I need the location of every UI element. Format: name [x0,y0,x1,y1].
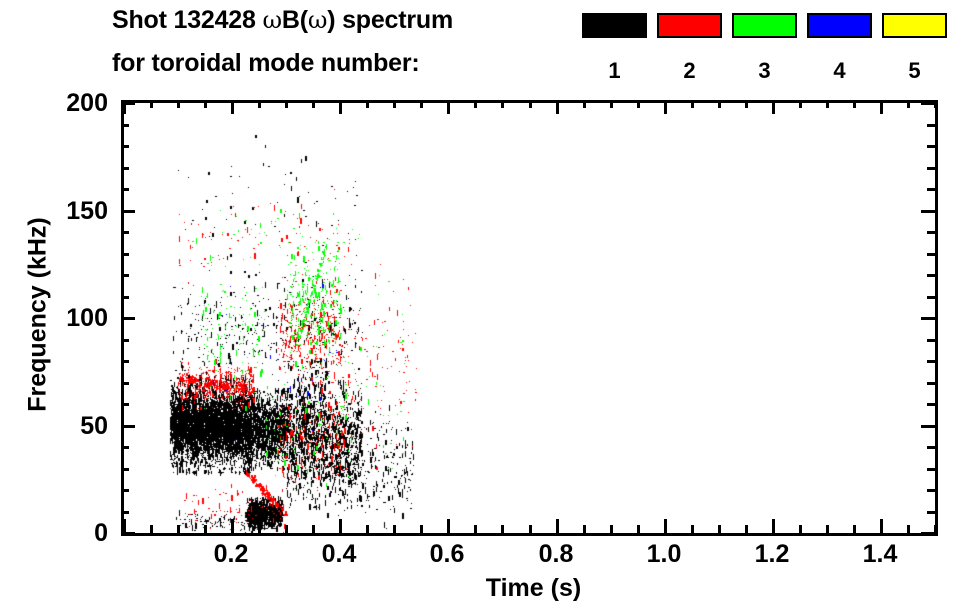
x-minor-tick-top [474,100,477,108]
page-subtitle: for toroidal mode number: [112,49,420,78]
legend-swatch-mode-n4 [807,13,872,38]
x-major-tick-top [556,100,559,114]
y-minor-tick-right [927,511,935,514]
x-minor-tick-top [934,100,937,108]
y-minor-tick [121,511,129,514]
y-minor-tick-right [927,360,935,363]
y-minor-tick [121,339,129,342]
title-text-pre: Shot 132428 [112,6,262,34]
y-minor-tick-right [927,231,935,234]
y-minor-tick [121,403,129,406]
legend-label-mode-n5: 5 [882,60,947,82]
x-minor-tick [285,525,288,533]
y-minor-tick-right [927,489,935,492]
plot-frame-right-edge [935,100,938,536]
x-minor-tick [610,525,613,533]
y-minor-tick-right [927,188,935,191]
x-minor-tick-top [583,100,586,108]
x-minor-tick [393,525,396,533]
x-minor-tick [826,525,829,533]
y-minor-tick-right [927,446,935,449]
y-major-tick-right [921,317,935,320]
y-minor-tick-right [927,339,935,342]
x-major-tick [880,519,883,533]
x-minor-tick [907,525,910,533]
legend-label-mode-n4: 4 [807,60,872,82]
y-major-tick [121,425,135,428]
y-minor-tick [121,253,129,256]
y-minor-tick-right [927,468,935,471]
x-minor-tick-top [637,100,640,108]
y-minor-tick [121,468,129,471]
x-minor-tick-top [529,100,532,108]
x-axis-title-text: Time (s) [486,574,581,602]
x-major-tick [772,519,775,533]
x-major-tick [664,519,667,533]
y-minor-tick-right [927,167,935,170]
y-major-tick [121,317,135,320]
x-minor-tick [799,525,802,533]
y-minor-tick [121,274,129,277]
spectrum-figure: Shot 132428 ωB(ω) spectrum for toroidal … [0,0,963,615]
x-minor-tick-top [501,100,504,108]
y-minor-tick [121,188,129,191]
x-major-tick-top [231,100,234,114]
x-minor-tick [420,525,423,533]
x-minor-tick-top [907,100,910,108]
y-minor-tick-right [927,296,935,299]
x-minor-tick-top [745,100,748,108]
x-minor-tick-top [285,100,288,108]
x-minor-tick-top [826,100,829,108]
y-major-tick-right [921,102,935,105]
x-minor-tick-top [150,100,153,108]
x-minor-tick [745,525,748,533]
x-minor-tick [583,525,586,533]
x-minor-tick-top [691,100,694,108]
x-minor-tick-top [853,100,856,108]
x-major-tick [123,519,126,533]
x-minor-tick [204,525,207,533]
x-minor-tick [691,525,694,533]
omega-symbol-2: ω [308,6,327,34]
x-minor-tick-top [420,100,423,108]
x-tick-label: 0.6 [402,542,492,567]
y-axis-title: Frequency (kHz) [24,195,53,435]
x-minor-tick [258,525,261,533]
y-minor-tick [121,382,129,385]
y-minor-tick [121,124,129,127]
title-text-mid: B( [282,6,308,34]
x-minor-tick [718,525,721,533]
y-major-tick [121,210,135,213]
x-minor-tick [474,525,477,533]
y-minor-tick-right [927,124,935,127]
y-minor-tick-right [927,274,935,277]
title-text-post: ) spectrum [327,6,453,34]
x-tick-label: 0.8 [511,542,601,567]
legend-swatch-mode-n1 [582,13,647,38]
y-major-tick-right [921,425,935,428]
y-minor-tick-right [927,403,935,406]
omega-symbol-1: ω [262,6,281,34]
y-major-tick-right [921,210,935,213]
x-major-tick-top [339,100,342,114]
spectrogram-scatter-canvas [124,103,935,533]
x-tick-label: 1.2 [727,542,817,567]
x-minor-tick [177,525,180,533]
x-minor-tick-top [258,100,261,108]
x-major-tick [447,519,450,533]
y-minor-tick [121,489,129,492]
x-minor-tick-top [366,100,369,108]
y-minor-tick-right [927,145,935,148]
y-minor-tick [121,145,129,148]
x-minor-tick [853,525,856,533]
legend-label-mode-n1: 1 [582,60,647,82]
y-tick-label: 0 [38,521,108,546]
legend-label-mode-n3: 3 [732,60,797,82]
x-minor-tick [637,525,640,533]
x-minor-tick [529,525,532,533]
y-minor-tick [121,167,129,170]
y-minor-tick [121,231,129,234]
x-minor-tick [312,525,315,533]
x-major-tick-top [664,100,667,114]
y-minor-tick [121,446,129,449]
x-minor-tick-top [177,100,180,108]
y-minor-tick [121,296,129,299]
legend-swatch-mode-n2 [657,13,722,38]
x-tick-label: 0.4 [294,542,384,567]
x-major-tick-top [123,100,126,114]
x-minor-tick [366,525,369,533]
y-major-tick-right [921,532,935,535]
x-axis-title: Time (s) [0,574,963,603]
x-tick-label: 1.4 [835,542,925,567]
y-minor-tick-right [927,382,935,385]
x-minor-tick [501,525,504,533]
x-minor-tick-top [718,100,721,108]
x-minor-tick [934,525,937,533]
y-tick-label: 200 [38,91,108,116]
x-minor-tick [150,525,153,533]
x-major-tick [556,519,559,533]
y-minor-tick [121,360,129,363]
x-tick-label: 0.2 [186,542,276,567]
x-major-tick-top [772,100,775,114]
y-minor-tick-right [927,253,935,256]
legend-swatch-mode-n3 [732,13,797,38]
x-minor-tick-top [393,100,396,108]
x-major-tick-top [880,100,883,114]
page-title: Shot 132428 ωB(ω) spectrum [112,6,453,35]
x-minor-tick-top [312,100,315,108]
x-minor-tick-top [610,100,613,108]
legend-swatch-mode-n5 [882,13,947,38]
legend: 12345 [582,13,954,85]
x-major-tick [339,519,342,533]
x-tick-label: 1.0 [619,542,709,567]
legend-label-mode-n2: 2 [657,60,722,82]
x-major-tick [231,519,234,533]
x-major-tick-top [447,100,450,114]
x-minor-tick-top [204,100,207,108]
x-minor-tick-top [799,100,802,108]
